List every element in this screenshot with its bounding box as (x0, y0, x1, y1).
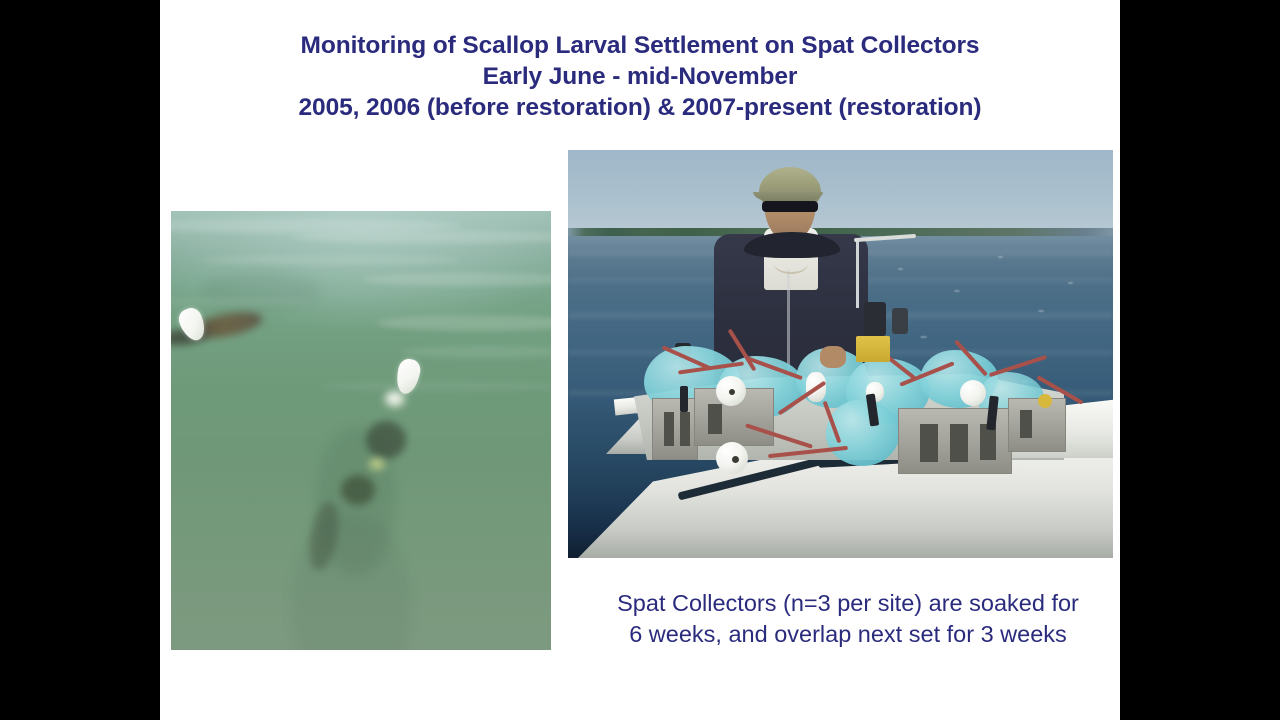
caption-line-2: 6 weeks, and overlap next set for 3 week… (568, 619, 1120, 650)
collector-strap (680, 386, 688, 412)
water-glint (954, 290, 960, 292)
collector-buoy-eye (729, 389, 735, 395)
slide-root: Monitoring of Scallop Larval Settlement … (0, 0, 1280, 720)
water-glint (998, 256, 1003, 258)
water-glint (1068, 282, 1073, 284)
cinder-block-hole (664, 412, 674, 446)
letterbox-bar-right (1120, 0, 1280, 720)
water-ripple (321, 381, 551, 391)
person-sunglasses (762, 201, 818, 212)
cinder-block-hole (950, 424, 968, 462)
submerged-collector-bag (341, 475, 375, 505)
collector-buoy-eye (732, 456, 739, 463)
boat-with-spat-collectors-photo (568, 150, 1113, 558)
cinder-block (1008, 398, 1066, 452)
title-line-3: 2005, 2006 (before restoration) & 2007-p… (160, 92, 1120, 123)
submerged-collector-bag (366, 421, 406, 459)
slide-caption: Spat Collectors (n=3 per site) are soake… (568, 588, 1120, 650)
slide-canvas: Monitoring of Scallop Larval Settlement … (160, 0, 1120, 720)
caption-line-1: Spat Collectors (n=3 per site) are soake… (568, 588, 1120, 619)
cinder-block-hole (1020, 410, 1032, 438)
slide-title: Monitoring of Scallop Larval Settlement … (160, 30, 1120, 123)
water-glint (898, 268, 903, 270)
cinder-block (652, 398, 698, 460)
title-line-1: Monitoring of Scallop Larval Settlement … (160, 30, 1120, 61)
boat-outboard-controls (864, 302, 886, 336)
letterbox-bar-left (0, 0, 160, 720)
water-ripple (201, 255, 461, 265)
underwater-shadow (201, 271, 321, 311)
sky (568, 150, 1113, 234)
boat-outboard-controls (892, 308, 908, 334)
person-necklace (774, 254, 808, 274)
boat-stern-rail (856, 238, 859, 308)
underwater-spat-collector-photo (171, 211, 551, 650)
cinder-block-hole (708, 404, 722, 434)
title-line-2: Early June - mid-November (160, 61, 1120, 92)
collector-buoy (960, 380, 986, 406)
yellow-bucket (856, 336, 890, 362)
cinder-block-hole (920, 424, 938, 462)
submerged-collector-float (369, 458, 385, 470)
water-glint (1038, 310, 1044, 312)
cinder-block-hole (680, 412, 690, 446)
yellow-float (1038, 394, 1052, 408)
submerged-float (385, 391, 405, 407)
water-glint (920, 336, 927, 338)
person-hand (820, 346, 846, 368)
